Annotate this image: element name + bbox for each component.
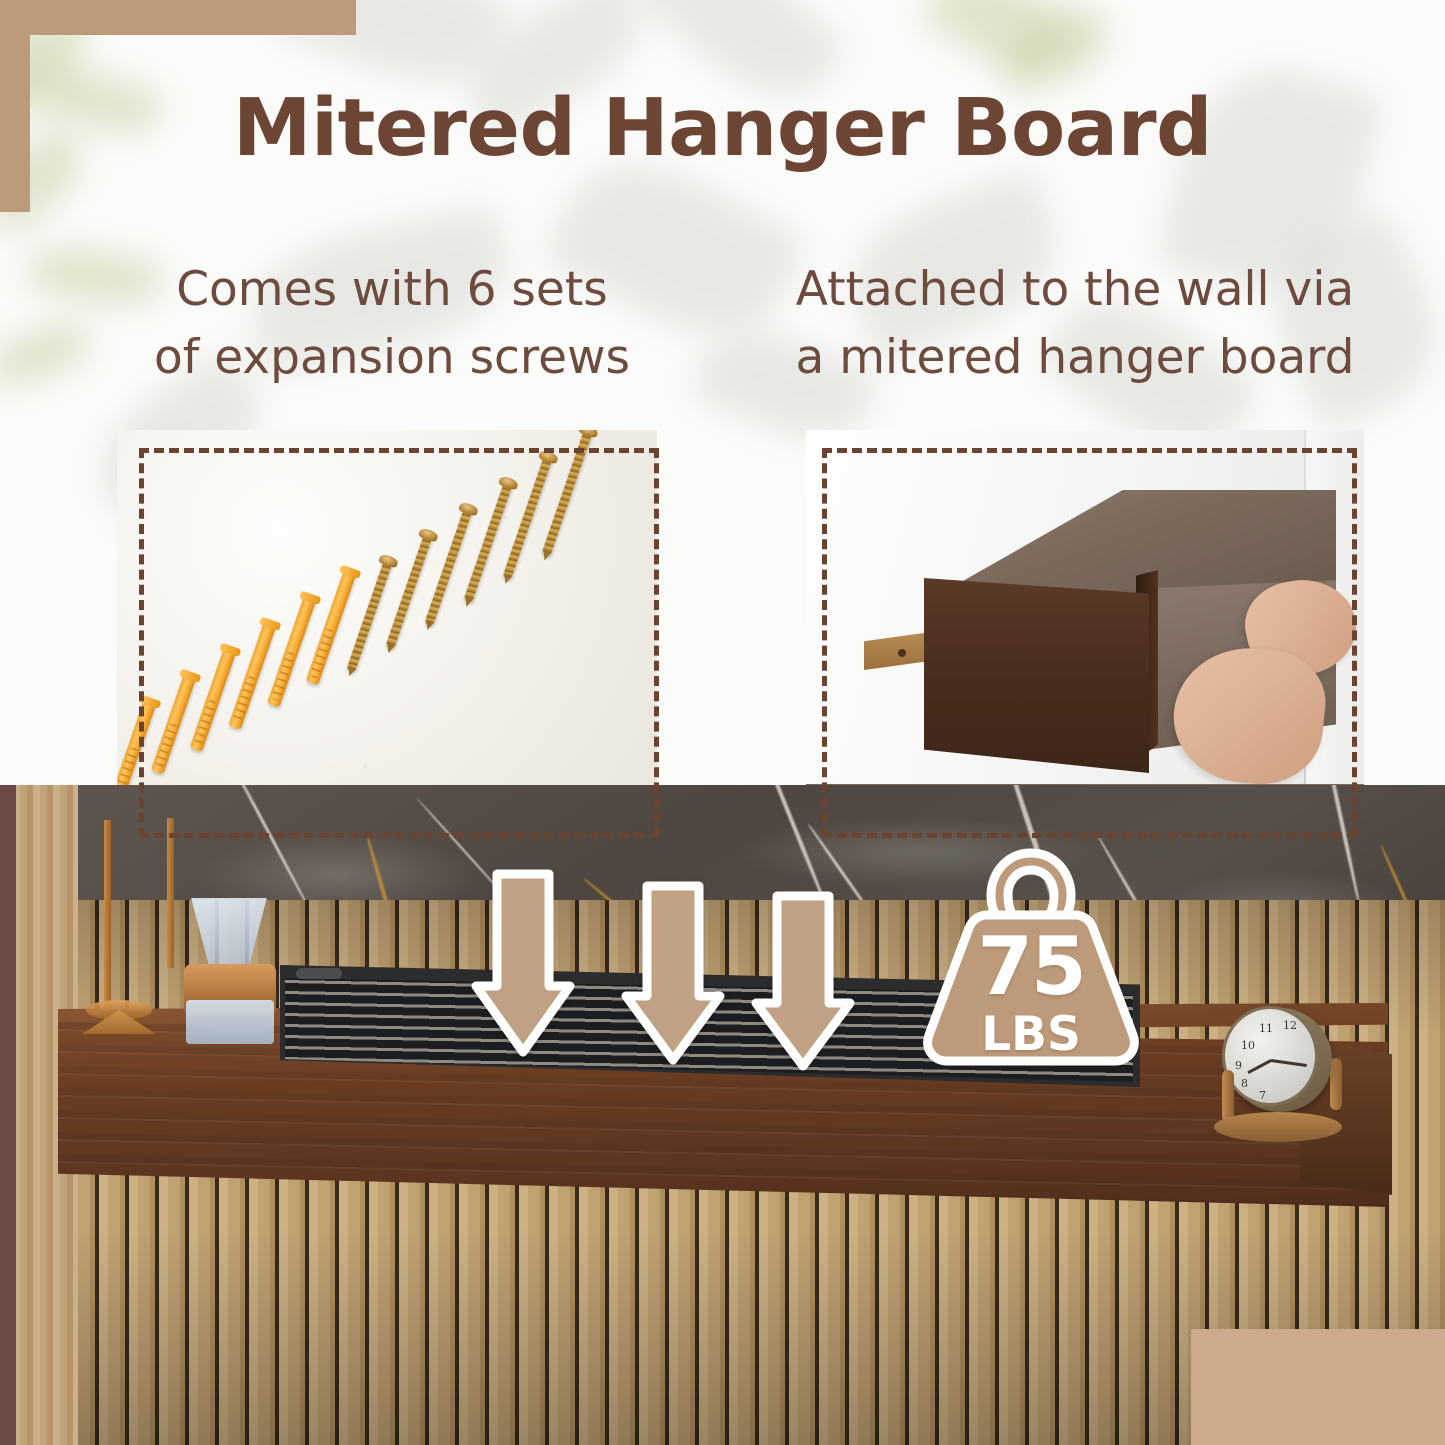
arrow-down-icon	[620, 880, 726, 1066]
product-infographic: Mitered Hanger Board Comes with 6 sets o…	[0, 0, 1445, 1445]
clock-hour-hand	[1247, 1059, 1271, 1074]
cleat-screw-hole-icon	[898, 649, 906, 657]
photo-surface	[117, 430, 657, 830]
clock-number: 8	[1241, 1077, 1248, 1090]
photo-wall-mounting	[806, 430, 1364, 830]
soundbar-control-nub	[296, 968, 342, 979]
arrow-down-icon	[750, 890, 856, 1072]
feature-caption-line1: Comes with 6 sets	[82, 256, 702, 324]
decor-stand-rod	[104, 820, 111, 1020]
feature-caption-hanger: Attached to the wall via a mitered hange…	[745, 256, 1405, 392]
page-title: Mitered Hanger Board	[0, 82, 1445, 174]
weight-unit: LBS	[905, 1011, 1157, 1058]
clock-number: 10	[1241, 1039, 1255, 1052]
scene-left-edge	[0, 785, 16, 1445]
clock-number: 9	[1235, 1059, 1242, 1072]
clock-number: 11	[1259, 1022, 1273, 1035]
clock-number: 12	[1283, 1019, 1297, 1032]
feature-caption-line1: Attached to the wall via	[745, 256, 1405, 324]
clock-stand-post	[1222, 1070, 1234, 1122]
feature-caption-line2: of expansion screws	[82, 324, 702, 392]
clock-number: 7	[1259, 1089, 1266, 1102]
feature-caption-screws: Comes with 6 sets of expansion screws	[82, 256, 702, 392]
leaf-green-icon	[0, 318, 95, 390]
photo-expansion-screws	[117, 430, 657, 830]
clock-base	[1214, 1112, 1342, 1142]
marble-vein	[220, 785, 312, 912]
arrow-down-icon	[470, 868, 576, 1058]
weight-capacity-badge: 75 LBS	[905, 843, 1157, 1071]
feature-caption-line2: a mitered hanger board	[745, 324, 1405, 392]
corner-decoration-bottom-right	[1191, 1329, 1445, 1445]
weight-value: 75	[905, 927, 1157, 1007]
marble-vein	[1320, 785, 1361, 907]
clock-stand-post	[1330, 1058, 1342, 1110]
decor-stand-rod	[167, 818, 174, 968]
clock-minute-hand	[1271, 1059, 1307, 1067]
shelf-end-face	[924, 578, 1149, 773]
glass-vase-base	[186, 1000, 274, 1044]
clock-face: 12 11 10 9 8 7	[1222, 1006, 1318, 1106]
